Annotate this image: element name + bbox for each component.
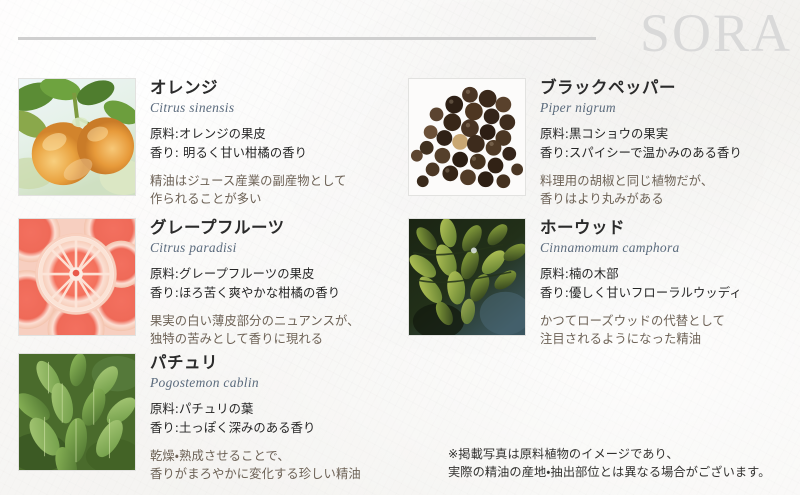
ingredient-latin-name: Piper nigrum — [540, 99, 800, 116]
ingredient-latin-name: Citrus sinensis — [150, 99, 402, 116]
ingredient-latin-name: Pogostemon cablin — [150, 374, 402, 391]
ho-wood-info: ホーウッド Cinnamomum camphora 原料:楠の木部 香り:優しく… — [540, 218, 800, 348]
disclaimer-line-2: 実際の精油の産地・抽出部位とは異なる場合がございます。 — [448, 463, 771, 481]
ingredient-aroma: 香り:スパイシーで温かみのある香り — [540, 144, 800, 163]
essential-oil-ingredient-panel: SORA — [0, 0, 800, 495]
description-line-2: 注目されるようになった精油 — [540, 330, 800, 348]
grapefruit-info: グレープフルーツ Citrus paradisi 原料:グレープフルーツの果皮 … — [150, 218, 402, 348]
ingredient-card-patchouli: パチュリ Pogostemon cablin 原料:パチュリの葉 香り:土っぽく… — [18, 353, 402, 483]
ingredient-name: パチュリ — [150, 353, 402, 373]
description-line-2: 独特の苦みとして香りに現れる — [150, 330, 402, 348]
ingredient-latin-name: Citrus paradisi — [150, 239, 402, 256]
ingredient-name: オレンジ — [150, 78, 402, 98]
description-line-1: 乾燥・熟成させることで、 — [150, 447, 402, 465]
ingredient-material: 原料:パチュリの葉 — [150, 400, 402, 419]
patchouli-info: パチュリ Pogostemon cablin 原料:パチュリの葉 香り:土っぽく… — [150, 353, 402, 483]
ingredient-aroma: 香り: 明るく甘い柑橘の香り — [150, 144, 402, 163]
ingredient-aroma: 香り:優しく甘いフローラルウッディ — [540, 284, 800, 303]
description-line-1: かつてローズウッドの代替として — [540, 312, 800, 330]
disclaimer-line-1: ※掲載写真は原料植物のイメージであり、 — [448, 445, 771, 463]
black-pepper-info: ブラックペッパー Piper nigrum 原料:黒コショウの果実 香り:スパイ… — [540, 78, 800, 208]
description-line-2: 作られることが多い — [150, 190, 402, 208]
description-line-1: 果実の白い薄皮部分のニュアンスが、 — [150, 312, 402, 330]
patchouli-leaves-photo — [18, 353, 136, 471]
ingredient-name: グレープフルーツ — [150, 218, 402, 238]
description-line-1: 精油はジュース産業の副産物として — [150, 172, 402, 190]
orange-fruit-photo — [18, 78, 136, 196]
description-line-2: 香りはより丸みがある — [540, 190, 800, 208]
ingredient-name: ホーウッド — [540, 218, 800, 238]
grapefruit-slices-photo — [18, 218, 136, 336]
brand-logo-sora: SORA — [640, 2, 792, 64]
ingredient-card-ho-wood: ホーウッド Cinnamomum camphora 原料:楠の木部 香り:優しく… — [408, 218, 800, 348]
ho-wood-foliage-photo — [408, 218, 526, 336]
ingredient-aroma: 香り:ほろ苦く爽やかな柑橘の香り — [150, 284, 402, 303]
ingredient-card-black-pepper: ブラックペッパー Piper nigrum 原料:黒コショウの果実 香り:スパイ… — [408, 78, 800, 208]
ingredient-card-grapefruit: グレープフルーツ Citrus paradisi 原料:グレープフルーツの果皮 … — [18, 218, 402, 348]
ingredient-aroma: 香り:土っぽく深みのある香り — [150, 419, 402, 438]
ingredient-material: 原料:オレンジの果皮 — [150, 125, 402, 144]
orange-info: オレンジ Citrus sinensis 原料:オレンジの果皮 香り: 明るく甘… — [150, 78, 402, 208]
ingredient-material: 原料:黒コショウの果実 — [540, 125, 800, 144]
description-line-1: 料理用の胡椒と同じ植物だが、 — [540, 172, 800, 190]
ingredient-description: かつてローズウッドの代替として 注目されるようになった精油 — [540, 312, 800, 348]
header-divider-rule — [18, 37, 596, 40]
photo-disclaimer-note: ※掲載写真は原料植物のイメージであり、 実際の精油の産地・抽出部位とは異なる場合… — [448, 445, 771, 481]
ingredient-material: 原料:楠の木部 — [540, 265, 800, 284]
description-line-2: 香りがまろやかに変化する珍しい精油 — [150, 465, 402, 483]
ingredient-card-orange: オレンジ Citrus sinensis 原料:オレンジの果皮 香り: 明るく甘… — [18, 78, 402, 208]
ingredient-description: 果実の白い薄皮部分のニュアンスが、 独特の苦みとして香りに現れる — [150, 312, 402, 348]
ingredient-material: 原料:グレープフルーツの果皮 — [150, 265, 402, 284]
ingredient-description: 精油はジュース産業の副産物として 作られることが多い — [150, 172, 402, 208]
ingredient-latin-name: Cinnamomum camphora — [540, 239, 800, 256]
ingredient-description: 料理用の胡椒と同じ植物だが、 香りはより丸みがある — [540, 172, 800, 208]
ingredient-name: ブラックペッパー — [540, 78, 800, 98]
black-peppercorns-photo — [408, 78, 526, 196]
ingredient-description: 乾燥・熟成させることで、 香りがまろやかに変化する珍しい精油 — [150, 447, 402, 483]
